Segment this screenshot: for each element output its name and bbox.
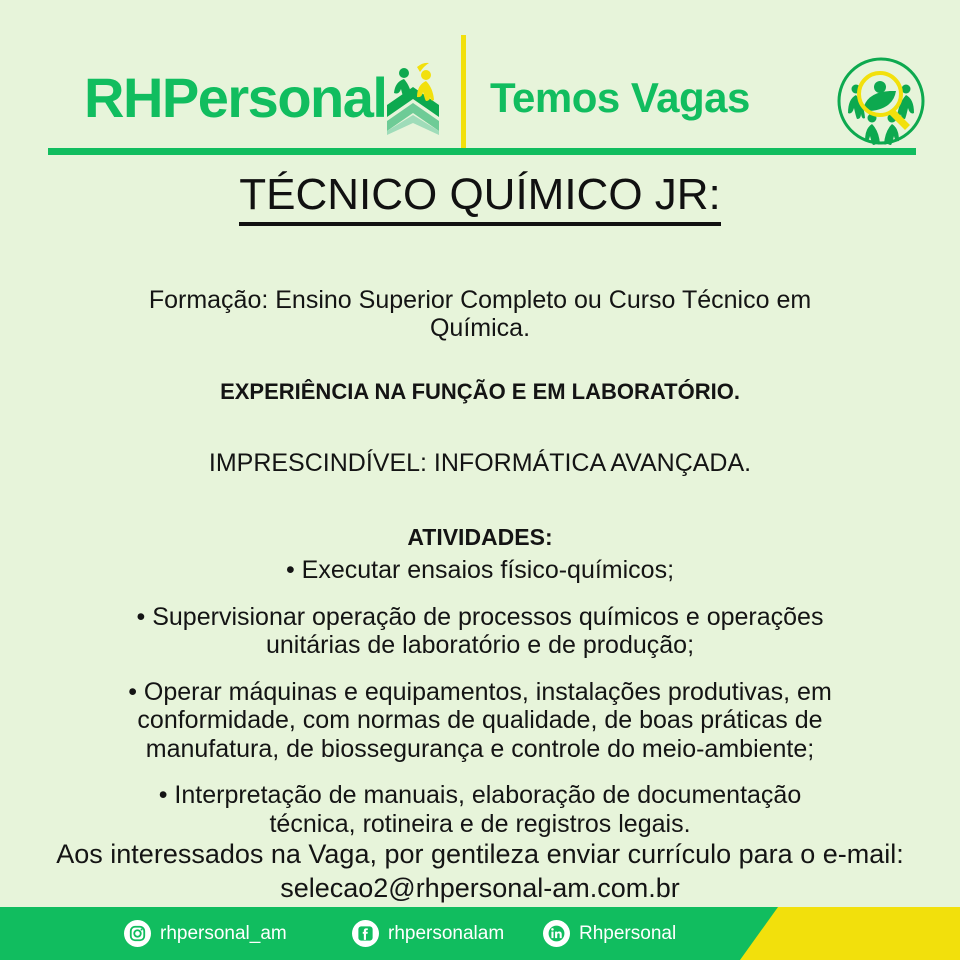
list-item: • Operar máquinas e equipamentos, instal…: [0, 678, 960, 764]
footer-yellow-wedge: [740, 907, 960, 960]
page-title: TÉCNICO QUÍMICO JR:: [0, 170, 960, 220]
social-link-linkedin[interactable]: Rhpersonal: [543, 907, 676, 960]
education-requirement: Formação: Ensino Superior Completo ou Cu…: [0, 286, 960, 342]
tagline-text: Temos Vagas: [490, 74, 750, 122]
social-link-instagram[interactable]: rhpersonal_am: [124, 907, 287, 960]
header-yellow-divider: [461, 35, 466, 151]
brand-lockup: RHPersonal: [48, 52, 452, 144]
experience-requirement: EXPERIÊNCIA NA FUNÇÃO E EM LABORATÓRIO.: [0, 380, 960, 405]
social-link-facebook[interactable]: rhpersonalam: [352, 907, 504, 960]
contact-section: Aos interessados na Vaga, por gentileza …: [0, 838, 960, 906]
chevron-people-logo-icon: [384, 61, 442, 135]
page-title-text: TÉCNICO QUÍMICO JR:: [239, 170, 721, 226]
instagram-icon: [124, 920, 151, 947]
social-handle-instagram: rhpersonal_am: [160, 923, 287, 945]
social-handle-facebook: rhpersonalam: [388, 923, 504, 945]
social-handle-linkedin: Rhpersonal: [579, 923, 676, 945]
list-item: • Interpretação de manuais, elaboração d…: [0, 781, 960, 838]
tagline-block: Temos Vagas: [490, 52, 750, 144]
computing-requirement: IMPRESCINDÍVEL: INFORMÁTICA AVANÇADA.: [0, 449, 960, 477]
activities-list: • Executar ensaios físico-químicos; • Su…: [0, 556, 960, 856]
activities-heading: ATIVIDADES:: [0, 524, 960, 551]
header: RHPersonal Temos Vagas: [0, 0, 960, 158]
list-item: • Supervisionar operação de processos qu…: [0, 603, 960, 660]
header-divider-rule: [48, 148, 916, 155]
contact-instruction: Aos interessados na Vaga, por gentileza …: [0, 838, 960, 872]
people-magnifier-badge-icon: [836, 56, 926, 146]
facebook-icon: [352, 920, 379, 947]
list-item: • Executar ensaios físico-químicos;: [0, 556, 960, 585]
footer-social-bar: rhpersonal_am rhpersonalam Rhpersonal: [0, 907, 960, 960]
linkedin-icon: [543, 920, 570, 947]
contact-email[interactable]: selecao2@rhpersonal-am.com.br: [0, 872, 960, 906]
brand-wordmark: RHPersonal: [84, 70, 386, 126]
